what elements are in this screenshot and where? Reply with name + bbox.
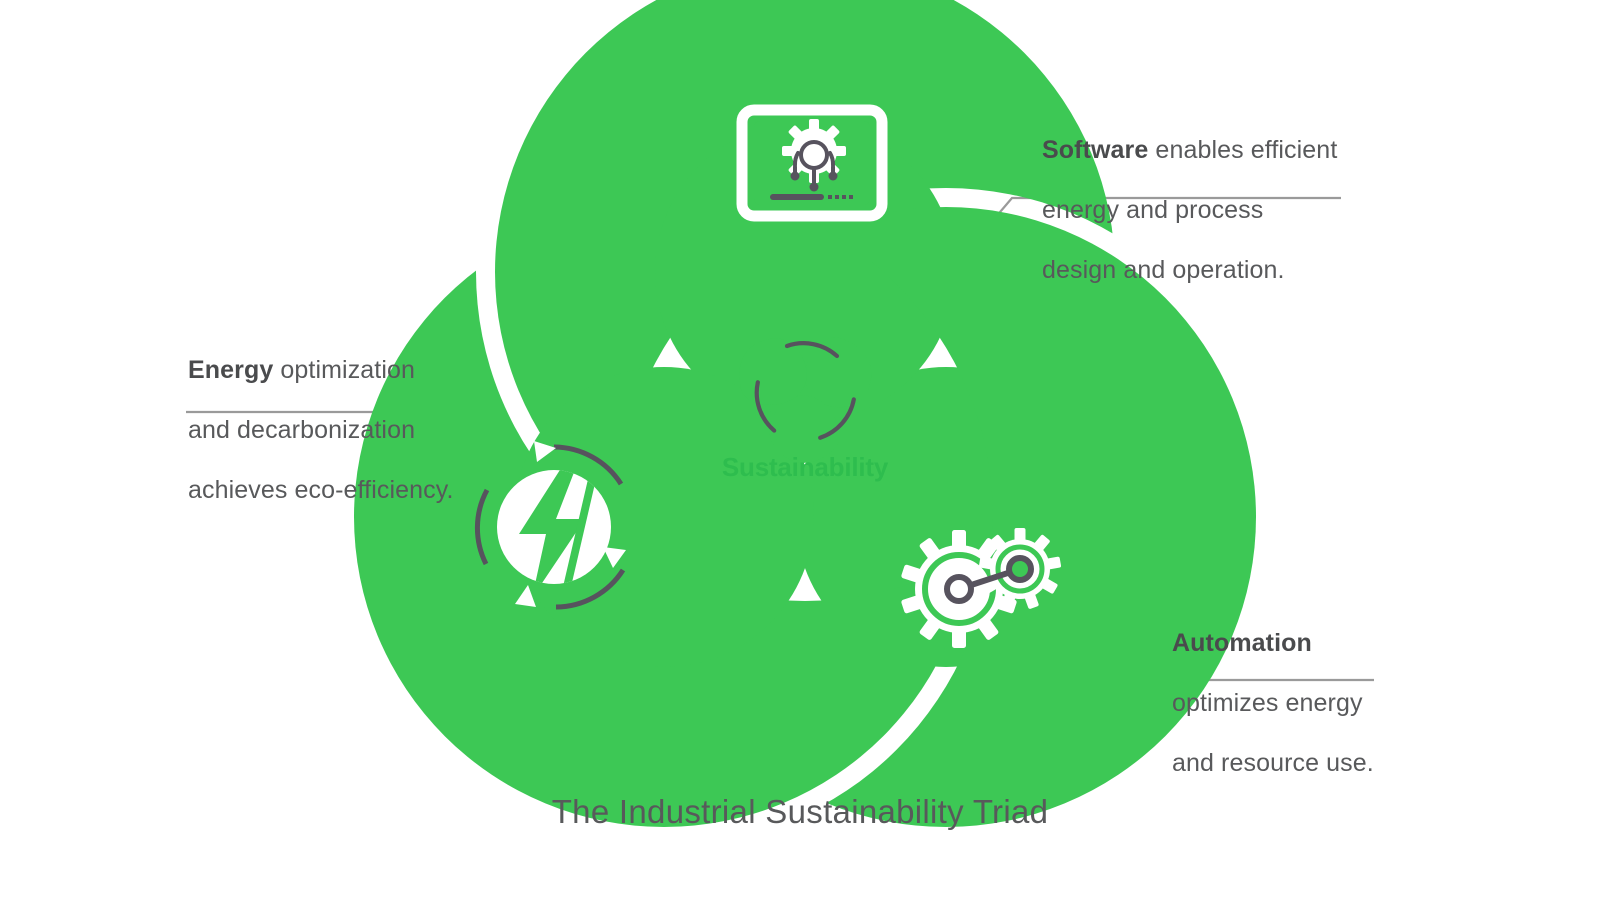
infographic-canvas: Sustainability Software enables efficien…	[0, 0, 1600, 900]
callout-energy-lead: Energy	[188, 356, 273, 384]
callout-software-line2: energy and process	[1042, 195, 1372, 225]
callout-automation: Automation optimizes energy and resource…	[1172, 598, 1412, 808]
callout-software: Software enables efficient energy and pr…	[1042, 105, 1372, 315]
software-icon	[742, 110, 882, 216]
callout-automation-line2: optimizes energy	[1172, 688, 1412, 718]
callout-automation-lead: Automation	[1172, 629, 1312, 657]
callout-energy-line1-rest: optimization	[273, 356, 415, 384]
callout-energy: Energy optimization and decarbonization …	[188, 325, 488, 535]
callout-software-line1-rest: enables efficient	[1148, 136, 1337, 164]
callout-software-line3: design and operation.	[1042, 255, 1372, 285]
callout-software-lead: Software	[1042, 136, 1148, 164]
callout-energy-line2: and decarbonization	[188, 415, 488, 445]
center-label-sustainability: Sustainability	[660, 452, 950, 483]
page-title: The Industrial Sustainability Triad	[0, 793, 1600, 831]
callout-automation-line3: and resource use.	[1172, 748, 1412, 778]
callout-energy-line3: achieves eco-efficiency.	[188, 475, 488, 505]
